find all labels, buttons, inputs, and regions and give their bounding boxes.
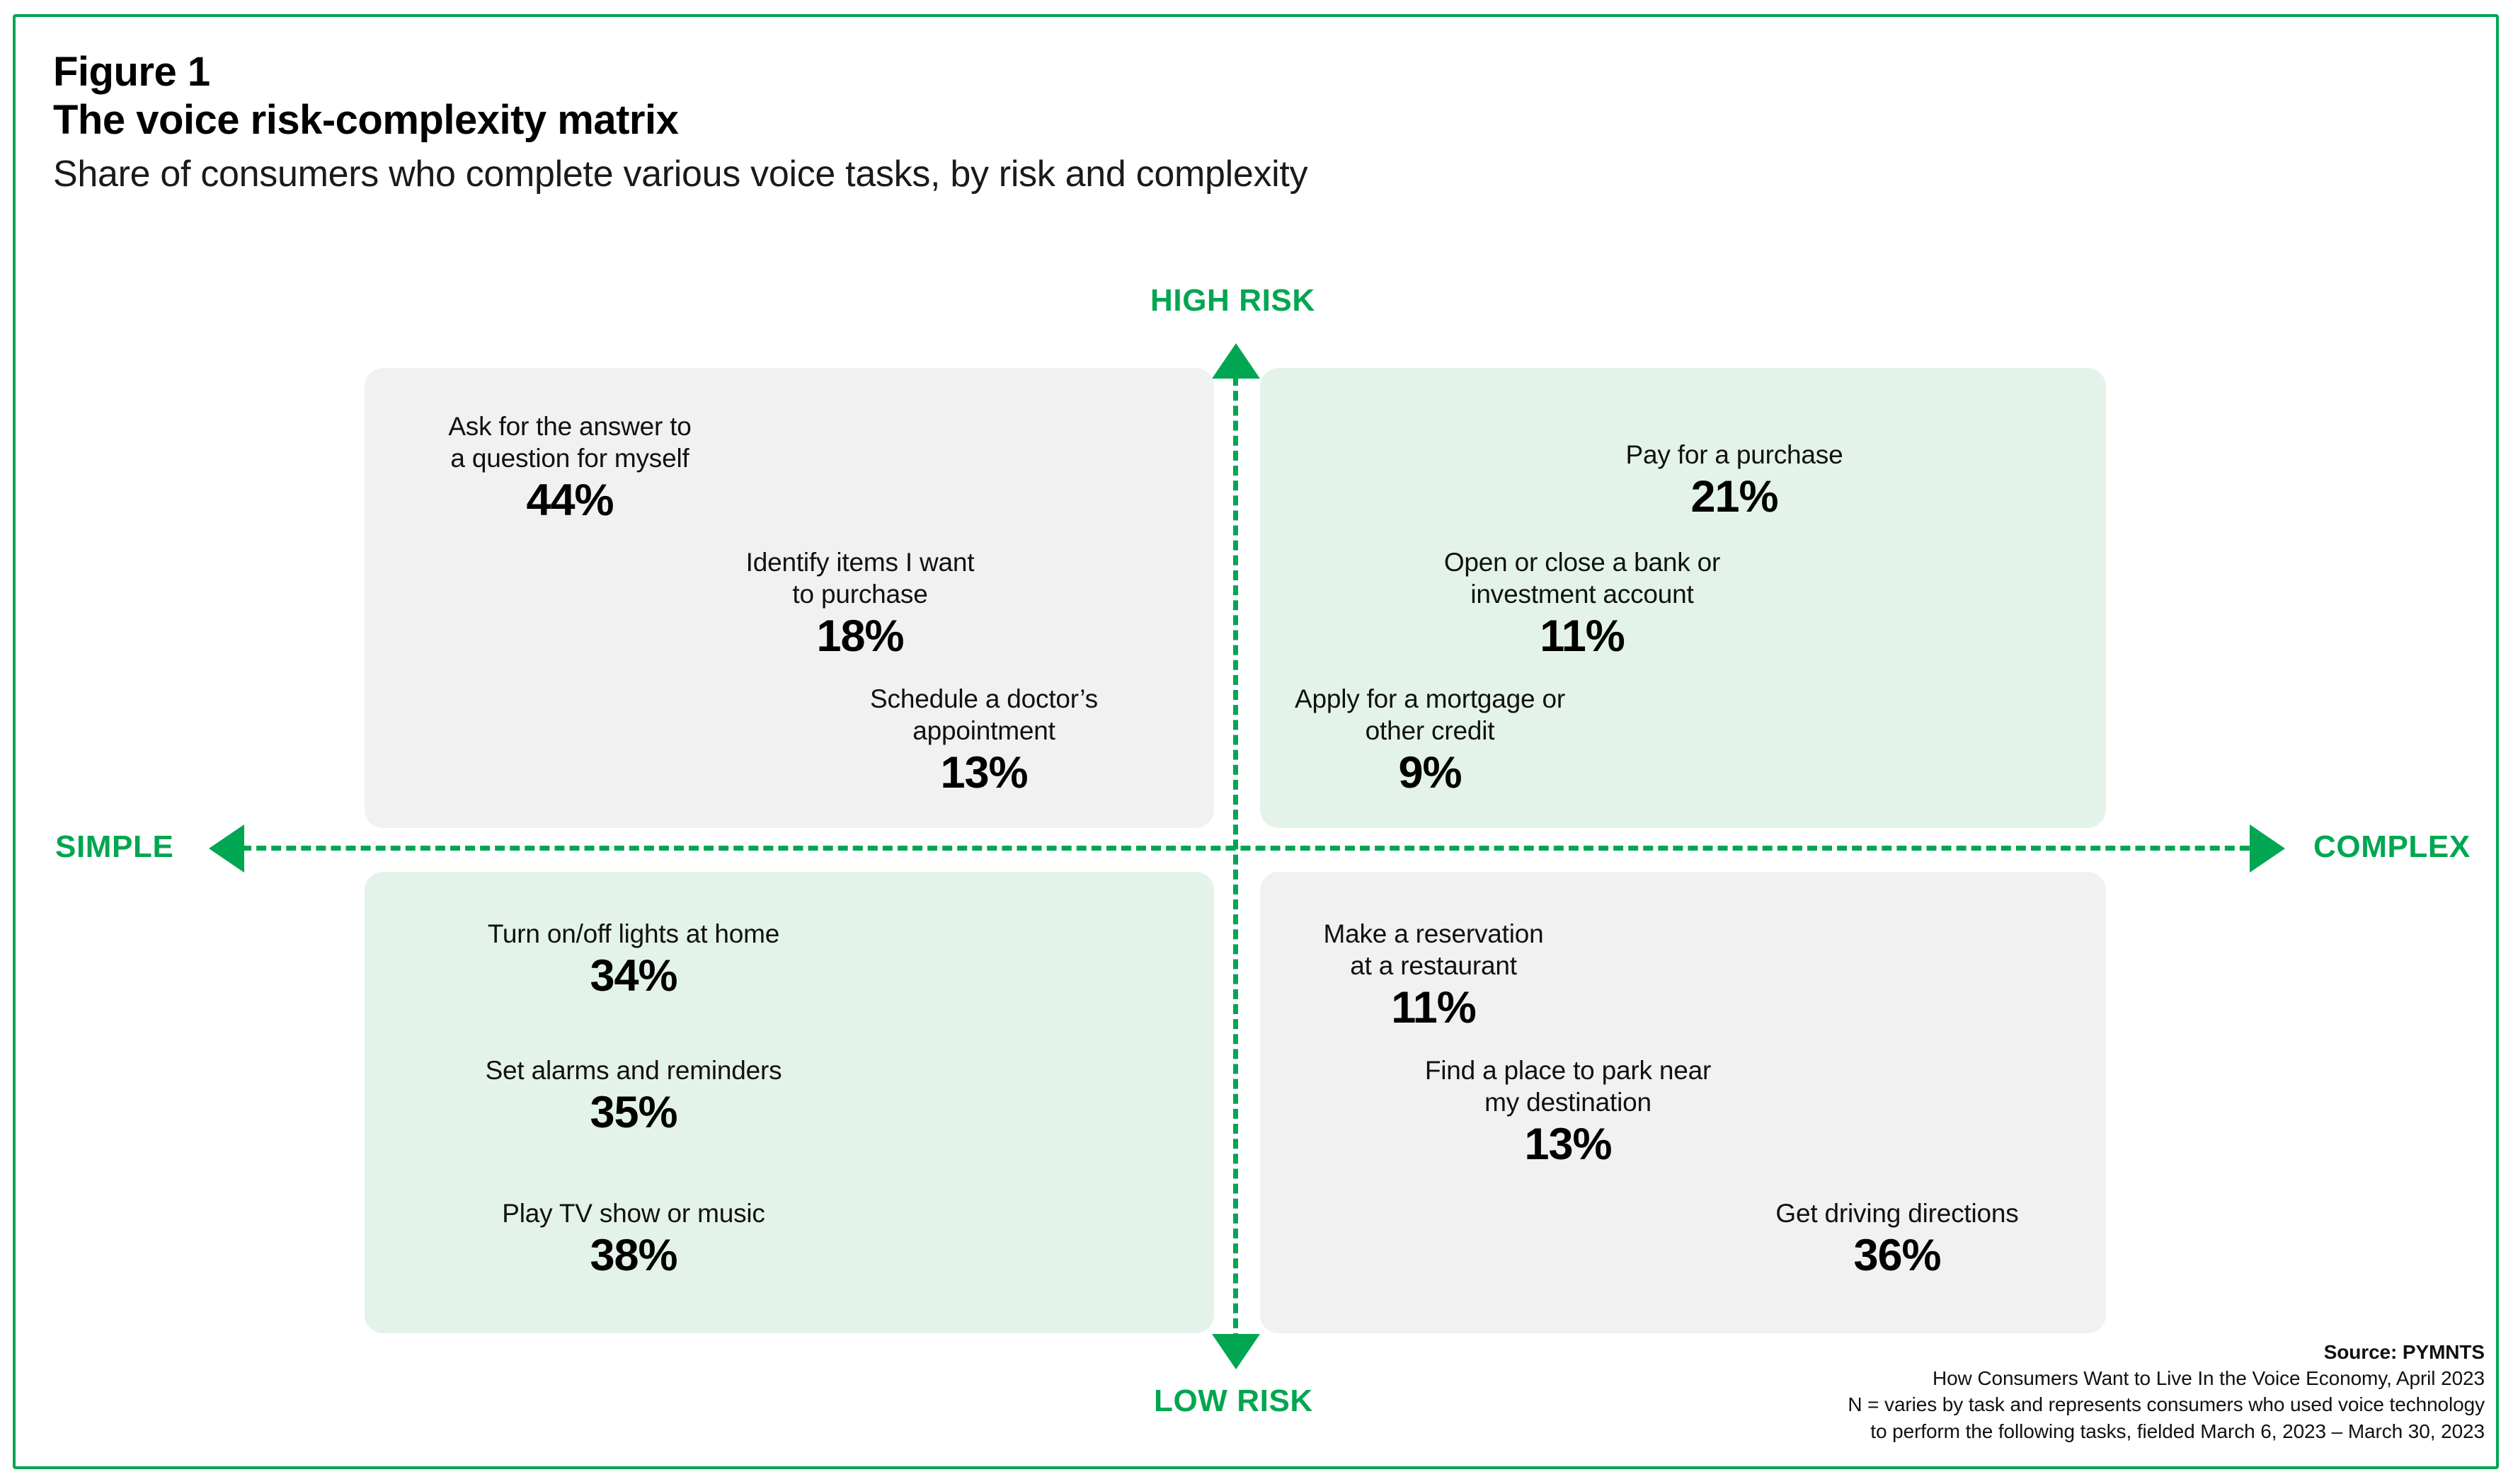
item-label: Schedule a doctor’s appointment [786, 683, 1182, 747]
figure-page: Figure 1 The voice risk-complexity matri… [0, 0, 2513, 1484]
source-line-4: to perform the following tasks, fielded … [1494, 1418, 2485, 1444]
item-value: 13% [1370, 1120, 1766, 1170]
item-value: 36% [1699, 1231, 2095, 1281]
item-label: Make a reservation at a restaurant [1235, 918, 1632, 982]
source-line-2: How Consumers Want to Live In the Voice … [1494, 1365, 2485, 1391]
item-label: Identify items I want to purchase [662, 546, 1058, 610]
item-get-driving-directions: Get driving directions 36% [1699, 1197, 2095, 1281]
figure-number: Figure 1 [53, 48, 2035, 96]
item-value: 44% [372, 476, 768, 526]
axis-label-low-risk: LOW RISK [1154, 1384, 1313, 1419]
arrow-left-icon [209, 824, 244, 873]
item-value: 38% [435, 1231, 832, 1281]
item-value: 11% [1235, 983, 1632, 1033]
item-label: Apply for a mortgage or other credit [1232, 683, 1628, 747]
axis-label-simple: SIMPLE [55, 829, 173, 865]
item-label: Ask for the answer to a question for mys… [372, 410, 768, 474]
item-value: 35% [435, 1088, 832, 1138]
item-make-restaurant-reservation: Make a reservation at a restaurant 11% [1235, 918, 1632, 1033]
source-line-3: N = varies by task and represents consum… [1494, 1391, 2485, 1417]
item-label: Get driving directions [1699, 1197, 2095, 1229]
item-play-tv-music: Play TV show or music 38% [435, 1197, 832, 1281]
figure-subtitle: Share of consumers who complete various … [53, 151, 2035, 199]
item-apply-mortgage-credit: Apply for a mortgage or other credit 9% [1232, 683, 1628, 798]
item-label: Set alarms and reminders [435, 1054, 832, 1086]
item-label: Find a place to park near my destination [1370, 1054, 1766, 1118]
axis-label-high-risk: HIGH RISK [1150, 283, 1315, 318]
arrow-up-icon [1212, 343, 1260, 379]
item-label: Open or close a bank or investment accou… [1384, 546, 1780, 610]
axis-label-complex: COMPLEX [2313, 829, 2471, 865]
item-turn-lights-home: Turn on/off lights at home 34% [435, 918, 832, 1001]
item-value: 34% [435, 951, 832, 1001]
item-label: Turn on/off lights at home [435, 918, 832, 950]
item-value: 9% [1232, 748, 1628, 798]
figure-title: The voice risk-complexity matrix [53, 96, 2035, 144]
item-open-close-bank-account: Open or close a bank or investment accou… [1384, 546, 1780, 662]
item-value: 18% [662, 611, 1058, 662]
item-pay-for-purchase: Pay for a purchase 21% [1536, 439, 1933, 522]
item-value: 13% [786, 748, 1182, 798]
item-value: 11% [1384, 611, 1780, 662]
vertical-axis-dashed-line [1233, 361, 1238, 1343]
arrow-right-icon [2250, 824, 2285, 873]
item-find-parking: Find a place to park near my destination… [1370, 1054, 1766, 1170]
figure-header: Figure 1 The voice risk-complexity matri… [53, 48, 2035, 198]
source-note: Source: PYMNTS How Consumers Want to Liv… [1494, 1339, 2485, 1444]
source-line-1: Source: PYMNTS [1494, 1339, 2485, 1365]
horizontal-axis-dashed-line [227, 846, 2279, 851]
item-ask-answer-question: Ask for the answer to a question for mys… [372, 410, 768, 526]
item-label: Play TV show or music [435, 1197, 832, 1229]
item-label: Pay for a purchase [1536, 439, 1933, 471]
item-set-alarms-reminders: Set alarms and reminders 35% [435, 1054, 832, 1138]
arrow-down-icon [1212, 1334, 1260, 1369]
item-schedule-doctor-appointment: Schedule a doctor’s appointment 13% [786, 683, 1182, 798]
item-identify-items-purchase: Identify items I want to purchase 18% [662, 546, 1058, 662]
item-value: 21% [1536, 472, 1933, 522]
